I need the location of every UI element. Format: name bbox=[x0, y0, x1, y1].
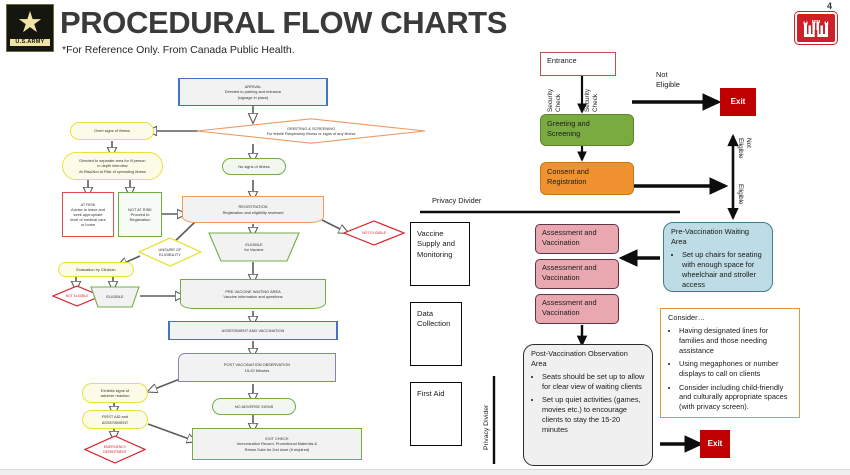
node-eligible-for-vaccine: ELIGIBLE for Vaccine bbox=[208, 232, 300, 262]
node-exit-check: EXIT CHECK Immunization Record, Promotio… bbox=[192, 428, 362, 460]
army-wordmark: U.S.ARMY bbox=[10, 39, 50, 46]
list-item: Using megaphones or number displays to c… bbox=[679, 359, 792, 379]
node-at-risk: AT RISK Advise to leave and seek appropr… bbox=[62, 192, 114, 237]
us-army-star-logo: ★ U.S.ARMY bbox=[6, 4, 54, 52]
node-overt-signs: Overt signs of illness bbox=[70, 122, 154, 140]
node-eligible: ELIGIBLE bbox=[90, 286, 140, 308]
label-not-eligible-top: Not Eligible bbox=[656, 70, 680, 89]
node-greeting-screening-right: Greeting and Screening bbox=[540, 114, 634, 146]
node-assessment-vaccination-3: Assessment and Vaccination bbox=[535, 294, 619, 324]
label-security-check-left: Security Check bbox=[547, 78, 563, 112]
node-arrival: ARRIVAL Directed to parking and entrance… bbox=[178, 78, 328, 106]
usace-castle-logo bbox=[795, 12, 837, 44]
label-privacy-divider-horizontal: Privacy Divider bbox=[432, 196, 481, 206]
node-vaccine-supply: Vaccine Supply and Monitoring bbox=[410, 222, 470, 286]
node-no-signs: No signs of illness bbox=[222, 158, 286, 175]
slide-bottom-bar bbox=[0, 469, 850, 475]
node-data-collection: Data Collection bbox=[410, 302, 462, 366]
node-post-vaccination-observation-area: Post-Vaccination Observation Area Seats … bbox=[523, 344, 653, 466]
page-number: 4 bbox=[827, 1, 832, 11]
node-pre-vaccine-waiting: PRE-VACCINE WAITING AREA Vaccine informa… bbox=[180, 279, 326, 309]
pre-vacc-title: Pre-Vaccination Waiting Area bbox=[671, 227, 765, 247]
list-item: Seats should be set up to allow for clea… bbox=[542, 372, 645, 392]
node-exit-top: Exit bbox=[720, 88, 756, 116]
node-assessment-vaccination-1: Assessment and Vaccination bbox=[535, 224, 619, 254]
label-privacy-divider-vertical: Privacy Divider bbox=[483, 378, 491, 450]
page-subtitle: *For Reference Only. From Canada Public … bbox=[62, 44, 295, 56]
consider-title: Consider… bbox=[668, 313, 792, 323]
slide-canvas: ★ U.S.ARMY PROCEDURAL FLOW CHARTS *For R… bbox=[0, 0, 850, 475]
node-exit-bottom: Exit bbox=[700, 430, 730, 458]
node-directed-separate: Directed to separate area for ill person… bbox=[62, 152, 163, 180]
node-pre-vaccination-waiting-area: Pre-Vaccination Waiting Area Set up chai… bbox=[663, 222, 773, 292]
node-consent-registration: Consent and Registration bbox=[540, 162, 634, 195]
node-not-eligible-registration: NOT ELIGIBLE bbox=[343, 220, 405, 246]
node-emergency-department: EMERGENCY DEPARTMENT bbox=[84, 435, 146, 464]
node-registration: REGISTRATION Registration and eligibilit… bbox=[182, 196, 324, 223]
post-obs-bullets: Seats should be set up to allow for clea… bbox=[531, 372, 645, 435]
list-item: Consider including child-friendly and cu… bbox=[679, 383, 792, 413]
label-eligible-side: Eligible bbox=[736, 184, 744, 214]
list-item: Having designated lines for families and… bbox=[679, 326, 792, 356]
consider-bullets: Having designated lines for families and… bbox=[668, 326, 792, 412]
node-not-at-risk: NOT AT RISK Proceed to Registration bbox=[118, 192, 162, 237]
node-entrance: Entrance bbox=[540, 52, 616, 76]
post-obs-title: Post-Vaccination Observation Area bbox=[531, 349, 645, 369]
list-item: Set up chairs for seating with enough sp… bbox=[682, 250, 765, 290]
node-assessment-vaccination: ASSESSMENT AND VACCINATION bbox=[168, 321, 338, 340]
node-assessment-vaccination-2: Assessment and Vaccination bbox=[535, 259, 619, 289]
node-first-aid: First Aid bbox=[410, 382, 462, 446]
node-evaluation-clinician: Evaluation by Clinician bbox=[58, 262, 134, 277]
pre-vacc-bullets: Set up chairs for seating with enough sp… bbox=[671, 250, 765, 290]
castle-icon bbox=[803, 19, 829, 38]
node-greeting-screening: GREETING & SCREENING For febrile Respira… bbox=[196, 118, 426, 144]
node-first-aid-assessment: FIRST AID and ASSESSMENT bbox=[82, 410, 148, 429]
label-security-check-right: Security Check bbox=[584, 78, 600, 112]
star-icon: ★ bbox=[15, 9, 45, 38]
node-consider-box: Consider… Having designated lines for fa… bbox=[660, 308, 800, 418]
node-adverse-signs: Exhibits signs of adverse reaction bbox=[82, 383, 148, 403]
label-not-eligible-side: Not Eligible bbox=[736, 138, 752, 176]
node-no-adverse-signs: NO ADVERSE SIGNS bbox=[212, 398, 296, 415]
page-title: PROCEDURAL FLOW CHARTS bbox=[60, 5, 507, 41]
node-post-vaccination-observation: POST VACCINATION OBSERVATION 15-20 Minut… bbox=[178, 353, 336, 382]
list-item: Set up quiet activities (games, movies e… bbox=[542, 395, 645, 435]
node-unsure-eligibility: UNSURE OF ELIGIBILITY bbox=[138, 237, 202, 267]
